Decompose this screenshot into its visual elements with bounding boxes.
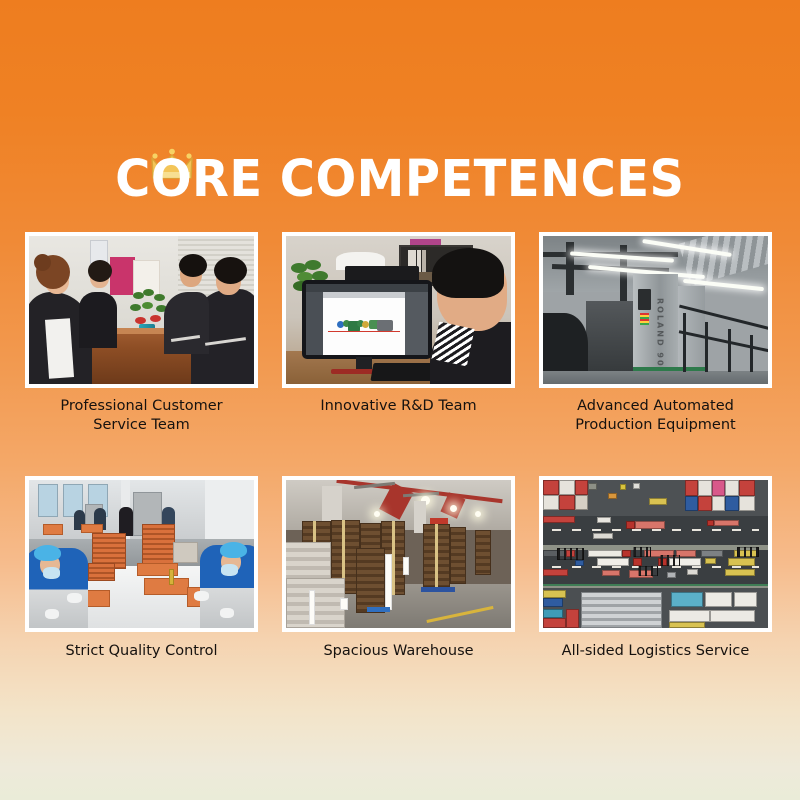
photo-strict-quality-control [29,480,254,628]
competence-card-innovative-rd-team[interactable]: Innovative R&D Team [282,232,515,435]
competence-card-advanced-automated-production-equipment[interactable]: ROLAND 900 Advanced Automated Production… [539,232,772,435]
caption-line-1: Professional Customer [60,398,222,414]
competence-card-strict-quality-control[interactable]: Strict Quality Control [25,476,258,661]
card-caption: Advanced Automated Production Equipment [539,397,772,435]
photo-frame: ROLAND 900 [539,232,772,388]
card-caption: Strict Quality Control [25,642,258,661]
photo-frame [282,476,515,632]
press-machine-label: ROLAND 900 [656,298,665,375]
photo-all-sided-logistics-service [543,480,768,628]
caption-line-1: Advanced Automated [577,398,734,414]
caption-line-1: Strict Quality Control [66,643,218,659]
page-title: CORE COMPETENCES [115,152,684,208]
caption-line-1: Spacious Warehouse [323,643,473,659]
card-caption: Spacious Warehouse [282,642,515,661]
competence-card-spacious-warehouse[interactable]: Spacious Warehouse [282,476,515,661]
caption-line-1: Innovative R&D Team [320,398,476,414]
caption-line-1: All-sided Logistics Service [562,643,750,659]
card-caption: Professional Customer Service Team [25,397,258,435]
core-competences-poster: CORE COMPETENCES [0,0,800,800]
competences-grid: Professional Customer Service Team [25,232,773,661]
photo-innovative-rd-team [286,236,511,384]
photo-frame [25,232,258,388]
photo-professional-customer-service-team [29,236,254,384]
photo-frame [539,476,772,632]
card-caption: Innovative R&D Team [282,397,515,416]
competence-card-all-sided-logistics-service[interactable]: All-sided Logistics Service [539,476,772,661]
caption-line-2: Production Equipment [575,417,735,433]
competence-card-professional-customer-service-team[interactable]: Professional Customer Service Team [25,232,258,435]
photo-frame [25,476,258,632]
photo-spacious-warehouse [286,480,511,628]
page-title-block: CORE COMPETENCES [0,152,800,208]
card-caption: All-sided Logistics Service [539,642,772,661]
caption-line-2: Service Team [93,417,190,433]
photo-frame [282,232,515,388]
photo-advanced-automated-production-equipment: ROLAND 900 [543,236,768,384]
